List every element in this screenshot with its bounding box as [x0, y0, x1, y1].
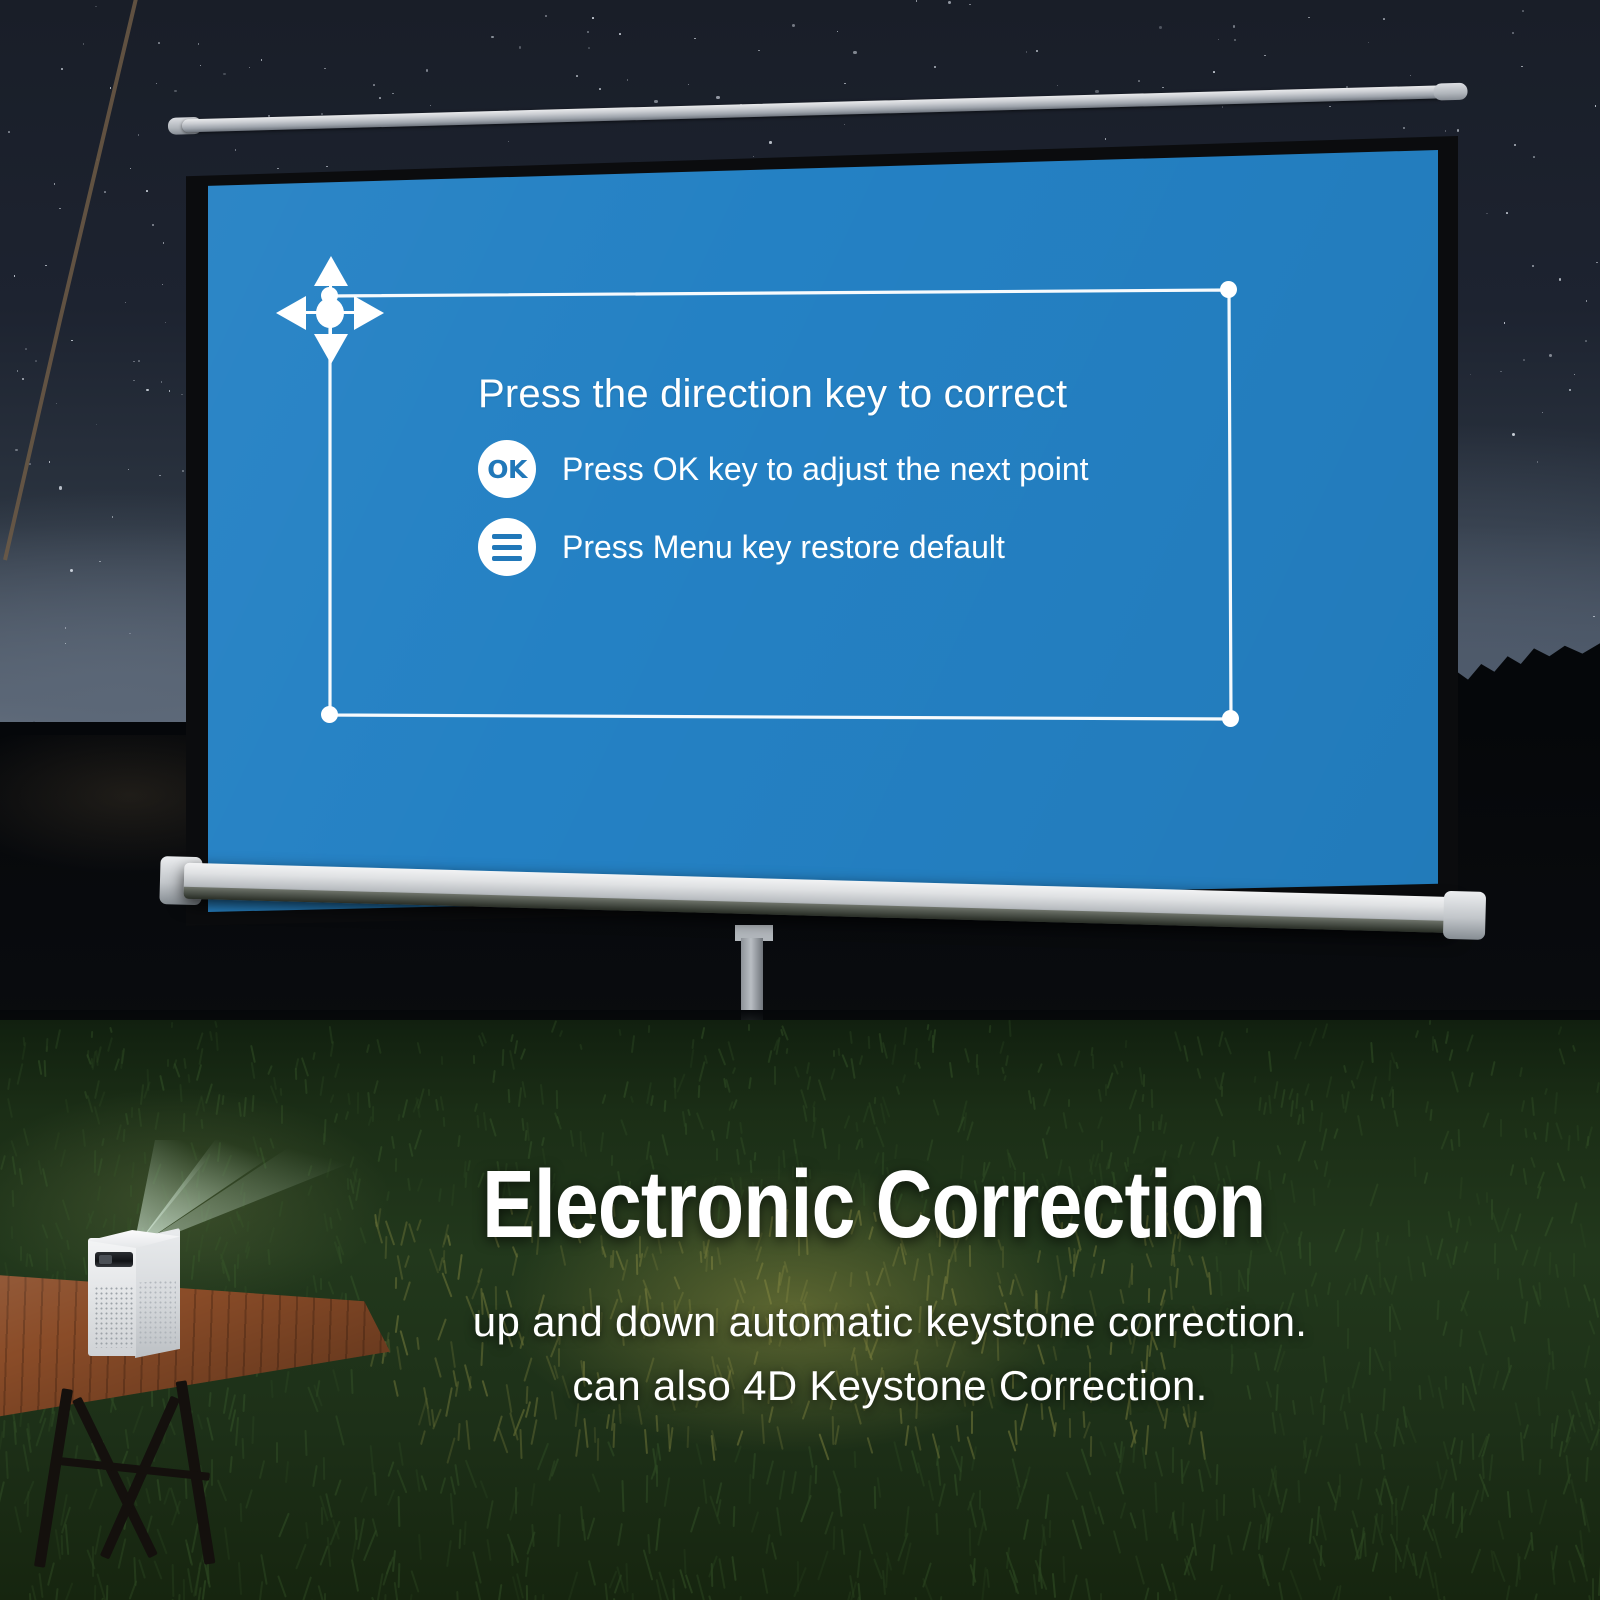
dpad-connector-down — [329, 326, 332, 340]
ok-key-icon: OK — [478, 440, 536, 498]
keystone-outline — [330, 290, 1231, 719]
bottom-right-handle[interactable] — [1222, 710, 1239, 727]
menu-key-icon — [478, 518, 536, 576]
osd-item-menu-label: Press Menu key restore default — [562, 529, 1005, 566]
marketing-subtitle-line-1: up and down automatic keystone correctio… — [0, 1298, 1600, 1346]
direction-pad-icon[interactable] — [276, 252, 384, 368]
osd-item-menu: Press Menu key restore default — [478, 518, 1005, 576]
dpad-center-dot[interactable] — [316, 298, 344, 328]
keystone-adjust-quad[interactable] — [0, 0, 1600, 1600]
top-right-handle[interactable] — [1220, 281, 1237, 298]
bottom-left-handle[interactable] — [321, 706, 338, 723]
scene-root: Press the direction key to correct OK Pr… — [0, 0, 1600, 1600]
marketing-subtitle-line-2: can also 4D Keystone Correction. — [0, 1362, 1600, 1410]
osd-item-ok: OK Press OK key to adjust the next point — [478, 440, 1089, 498]
menu-bar-1 — [492, 534, 522, 539]
marketing-title: Electronic Correction — [144, 1150, 1456, 1260]
menu-bar-3 — [492, 556, 522, 561]
dpad-left-arrow-icon[interactable] — [276, 296, 306, 330]
osd-item-ok-label: Press OK key to adjust the next point — [562, 451, 1089, 488]
dpad-right-arrow-icon[interactable] — [354, 296, 384, 330]
menu-bar-2 — [492, 545, 522, 550]
osd-headline: Press the direction key to correct — [478, 372, 1067, 417]
